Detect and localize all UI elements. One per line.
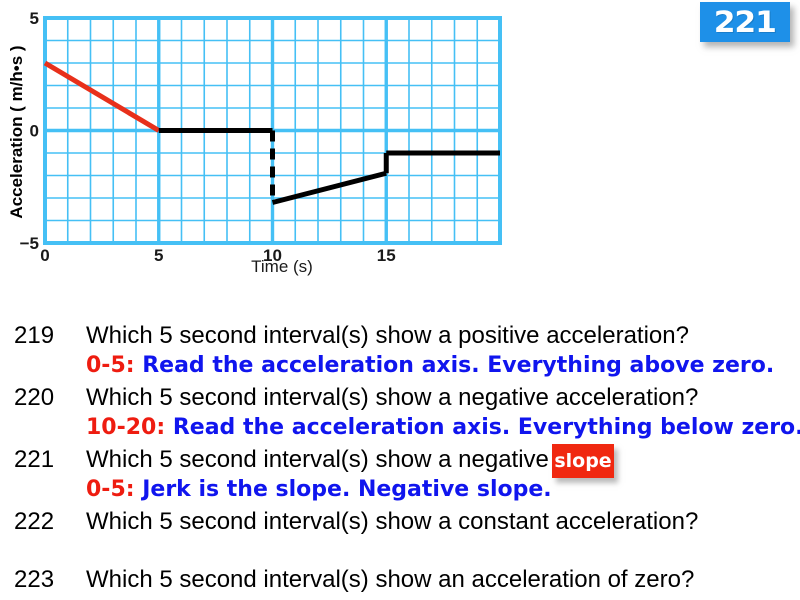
question-number: 220 (14, 384, 54, 412)
y-tick-label: 5 (30, 9, 39, 28)
answer-explanation-text: Jerk is the slope. Negative slope. (142, 477, 551, 502)
answer-block: 10-20: Read the acceleration axis. Every… (86, 415, 800, 440)
question-number: 222 (14, 508, 54, 536)
question-number: 221 (14, 446, 54, 474)
answer-row-220: 10-20: Read the acceleration axis. Every… (0, 415, 800, 446)
answer-explanation-text: Read the acceleration axis. Everything a… (142, 353, 774, 378)
question-text: Which 5 second interval(s) show a negati… (86, 384, 698, 412)
question-row-223: 223 Which 5 second interval(s) show an a… (0, 566, 800, 597)
chart-canvas: 051015 −505 Time (s) Acceleration ( m/h•… (0, 0, 560, 300)
question-text: Which 5 second interval(s) show a negati… (86, 446, 549, 474)
answer-row-219: 0-5: Read the acceleration axis. Everyth… (0, 353, 800, 384)
slope-callout-box: slope (552, 444, 614, 478)
slide-number-text: 221 (714, 5, 776, 39)
question-row-222: 222 Which 5 second interval(s) show a co… (0, 508, 800, 539)
x-axis-label: Time (s) (251, 257, 313, 276)
question-text: Which 5 second interval(s) show a consta… (86, 508, 698, 536)
answer-row-221: 0-5: Jerk is the slope. Negative slope. (0, 477, 800, 508)
x-tick-label: 5 (154, 246, 163, 265)
answer-interval: 10-20: (86, 415, 165, 440)
y-axis-label: Acceleration ( m/h•s ) (7, 45, 26, 218)
question-row-220: 220 Which 5 second interval(s) show a ne… (0, 384, 800, 415)
question-text: Which 5 second interval(s) show a positi… (86, 322, 689, 350)
y-tick-label: 0 (30, 122, 39, 141)
x-tick-label: 0 (40, 246, 49, 265)
answer-explanation-text: Read the acceleration axis. Everything b… (173, 415, 800, 440)
x-tick-label: 15 (377, 246, 396, 265)
question-number: 219 (14, 322, 54, 350)
slide-number-badge: 221 (700, 2, 790, 42)
answer-interval: 0-5: (86, 477, 135, 502)
slope-callout-label: slope (554, 450, 611, 472)
question-row-221: 221 Which 5 second interval(s) show a ne… (0, 446, 800, 477)
question-row-219: 219 Which 5 second interval(s) show a po… (0, 322, 800, 353)
y-tick-label: −5 (20, 234, 39, 253)
acceleration-time-graph: 051015 −505 Time (s) Acceleration ( m/h•… (0, 0, 560, 300)
x-axis-tick-labels: 051015 (40, 246, 395, 265)
blank-row (0, 539, 800, 566)
question-number: 223 (14, 566, 54, 594)
answer-block: 0-5: Read the acceleration axis. Everyth… (86, 353, 774, 378)
answer-block: 0-5: Jerk is the slope. Negative slope. (86, 477, 552, 502)
question-text: Which 5 second interval(s) show an accel… (86, 566, 694, 594)
answer-interval: 0-5: (86, 353, 135, 378)
answer-explanation (165, 415, 173, 440)
question-list: 219 Which 5 second interval(s) show a po… (0, 322, 800, 597)
